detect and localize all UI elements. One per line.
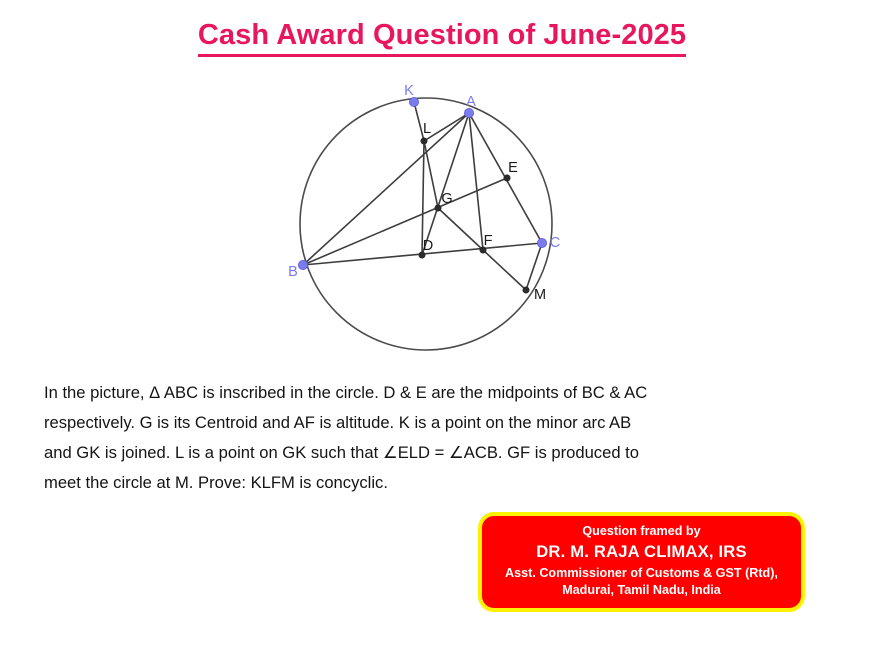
problem-line-1: In the picture, Δ ABC is inscribed in th… — [44, 378, 840, 408]
segment-FM — [483, 250, 526, 290]
geometry-figure: K A B C L E G D F M — [0, 72, 884, 362]
segment-GF — [438, 208, 483, 250]
label-M: M — [534, 287, 546, 303]
credit-location: Madurai, Tamil Nadu, India — [562, 582, 721, 599]
label-G: G — [441, 191, 452, 207]
credit-designation: Asst. Commissioner of Customs & GST (Rtd… — [505, 565, 778, 582]
credit-author-name: DR. M. RAJA CLIMAX, IRS — [536, 541, 747, 563]
label-C: C — [550, 235, 560, 251]
label-L: L — [423, 121, 431, 137]
geometry-diagram-svg: K A B C L E G D F M — [277, 72, 607, 362]
page-title: Cash Award Question of June-2025 — [198, 18, 686, 57]
point-L — [421, 138, 427, 144]
problem-line-2: respectively. G is its Centroid and AF i… — [44, 408, 840, 438]
segment-CM — [526, 243, 542, 290]
credit-box: Question framed by DR. M. RAJA CLIMAX, I… — [478, 512, 805, 612]
document-page: Cash Award Question of June-2025 — [0, 0, 884, 655]
point-B — [298, 260, 307, 269]
label-F: F — [484, 233, 493, 249]
credit-framed-by: Question framed by — [582, 523, 700, 540]
label-D: D — [423, 238, 433, 254]
segment-LG — [424, 141, 438, 208]
problem-line-4: meet the circle at M. Prove: KLFM is con… — [44, 468, 840, 498]
problem-line-3: and GK is joined. L is a point on GK suc… — [44, 438, 840, 468]
point-C — [537, 238, 546, 247]
segment-BE-median — [303, 178, 507, 265]
label-E: E — [508, 160, 518, 176]
label-K: K — [404, 83, 414, 99]
point-G — [435, 205, 441, 211]
point-M — [523, 287, 529, 293]
label-B: B — [288, 264, 298, 280]
problem-statement: In the picture, Δ ABC is inscribed in th… — [44, 378, 840, 498]
label-A: A — [466, 94, 476, 110]
title-container: Cash Award Question of June-2025 — [0, 18, 884, 57]
